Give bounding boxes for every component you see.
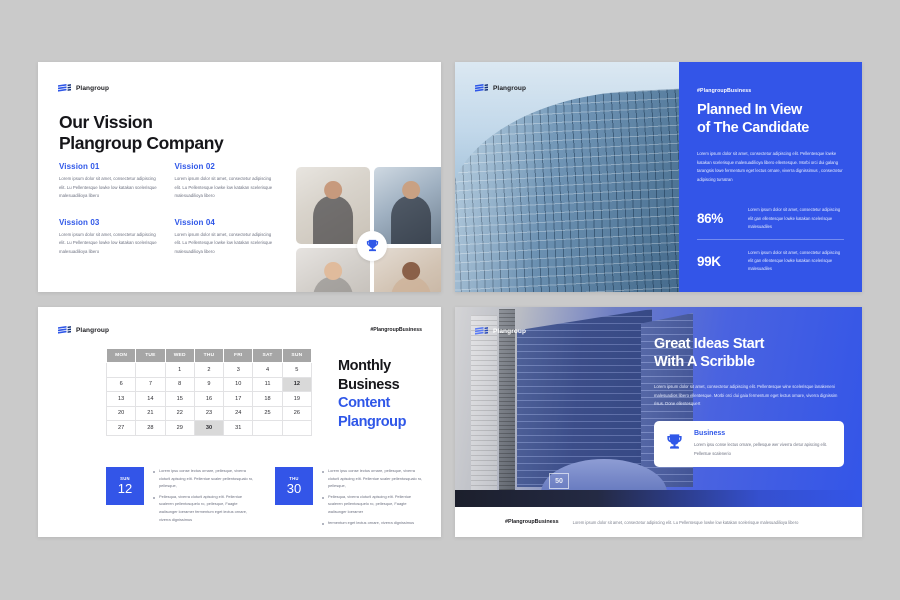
page-title-line1: Our Vission — [59, 112, 274, 133]
team-photo-grid — [296, 167, 441, 292]
page-title: Planned In View of The Candidate — [697, 102, 844, 138]
calendar-day-cell[interactable]: 13 — [107, 392, 136, 407]
event-item[interactable]: THU 30 Lorem ipsu conse lectus ornare, p… — [275, 467, 426, 529]
trophy-icon — [665, 432, 684, 451]
calendar-day-cell[interactable]: 16 — [194, 392, 223, 407]
slide-footer: #PlangroupBusiness Lorem ipsum dolor sit… — [455, 507, 862, 537]
calendar-day-cell[interactable]: 9 — [194, 377, 223, 392]
calendar-day-cell[interactable]: 20 — [107, 406, 136, 421]
page-title-line1: Great Ideas Start — [654, 335, 844, 353]
calendar-day-cell[interactable]: 22 — [165, 406, 194, 421]
slide-our-vission[interactable]: Plangroup Our Vission Plangroup Company … — [38, 62, 441, 292]
team-photo-2 — [374, 167, 441, 244]
calendar-day-cell[interactable]: 31 — [224, 421, 253, 436]
calendar-week-row: 13 14 15 16 17 18 19 — [107, 392, 312, 407]
event-bullet: fermentum eget lectus ornare, viverra di… — [322, 519, 426, 527]
slide-deck: Plangroup Our Vission Plangroup Company … — [0, 0, 900, 600]
stat-value: 99K — [697, 254, 737, 269]
calendar-day-cell[interactable]: 15 — [165, 392, 194, 407]
vision-heading: Vission 03 — [59, 218, 159, 227]
calendar-day-cell[interactable]: 2 — [194, 363, 223, 378]
building-photo — [455, 62, 679, 292]
page-title-line2: of The Candidate — [697, 120, 844, 138]
calendar-day-cell[interactable]: 8 — [165, 377, 194, 392]
event-bullets: Lorem ipsu conse lectus ornare, pellesqu… — [153, 467, 257, 529]
event-item[interactable]: SUN 12 Lorem ipsu conse lectus ornare, p… — [106, 467, 257, 529]
calendar-day-cell[interactable]: 14 — [136, 392, 165, 407]
calendar-day-cell[interactable]: 21 — [136, 406, 165, 421]
hashtag-label: #PlangroupBusiness — [697, 88, 844, 94]
calendar-table[interactable]: MON TUE WED THU FRI SAT SUN 1 2 3 4 — [106, 348, 312, 436]
calendar-week-row: 20 21 22 23 24 25 26 — [107, 406, 312, 421]
vision-body: Lorem ipsum dolor sit amet, consectetur … — [59, 231, 159, 257]
vision-item-2: Vission 02 Lorem ipsum dolor sit amet, c… — [175, 162, 275, 201]
page-title: Our Vission Plangroup Company — [59, 112, 274, 155]
vision-heading: Vission 04 — [175, 218, 275, 227]
calendar-week-row: 6 7 8 9 10 11 12 — [107, 377, 312, 392]
brand-logo-text: Plangroup — [493, 328, 526, 335]
stat-value: 86% — [697, 211, 737, 226]
calendar-day-cell[interactable]: 27 — [107, 421, 136, 436]
vision-heading: Vission 01 — [59, 162, 159, 171]
vision-item-3: Vission 03 Lorem ipsum dolor sit amet, c… — [59, 218, 159, 257]
page-title-line3: Content — [338, 394, 441, 413]
brand-logo[interactable]: Plangroup — [474, 83, 526, 94]
page-title-line2: Business — [338, 376, 441, 395]
calendar-header-cell: SUN — [282, 349, 311, 363]
calendar-header-cell: FRI — [224, 349, 253, 363]
calendar-day-cell[interactable]: 1 — [165, 363, 194, 378]
event-bullet: Pellesqua, viverra cloturli apiscing eli… — [322, 493, 426, 516]
building-sheen — [455, 88, 679, 292]
page-title-line1: Monthly — [338, 357, 441, 376]
calendar-day-cell-selected[interactable]: 30 — [194, 421, 223, 436]
calendar-day-cell[interactable]: 11 — [253, 377, 282, 392]
building-sign: 50 — [549, 473, 569, 489]
calendar-header-cell: MON — [107, 349, 136, 363]
calendar-day-cell[interactable] — [136, 363, 165, 378]
vision-heading: Vission 02 — [175, 162, 275, 171]
calendar-day-cell[interactable]: 24 — [224, 406, 253, 421]
page-title-line2: With A Scribble — [654, 353, 844, 371]
footer-hashtag: #PlangroupBusiness — [505, 519, 559, 525]
event-day: 30 — [287, 482, 301, 496]
calendar-day-cell[interactable]: 5 — [282, 363, 311, 378]
trophy-icon — [365, 238, 380, 253]
calendar-day-cell[interactable]: 10 — [224, 377, 253, 392]
calendar-day-cell[interactable]: 29 — [165, 421, 194, 436]
vision-body: Lorem ipsum dolor sit amet, consectetur … — [175, 231, 275, 257]
calendar-header-cell: TUE — [136, 349, 165, 363]
calendar-day-cell-selected[interactable]: 12 — [282, 377, 311, 392]
page-title-line1: Planned In View — [697, 102, 844, 120]
calendar-day-cell[interactable]: 19 — [282, 392, 311, 407]
event-bullet: Lorem ipsu conse lectus ornare, pellesqu… — [322, 467, 426, 490]
brand-logo[interactable]: Plangroup — [57, 325, 109, 336]
vision-body: Lorem ipsum dolor sit amet, consectetur … — [175, 175, 275, 201]
brand-logo[interactable]: Plangroup — [57, 83, 109, 94]
page-title: Monthly Business Content Plangroup — [338, 357, 441, 431]
plangroup-waves-icon — [474, 83, 489, 94]
calendar-day-cell[interactable]: 7 — [136, 377, 165, 392]
page-title-line4: Plangroup — [338, 413, 441, 432]
portrait-head — [402, 262, 420, 280]
vision-item-1: Vission 01 Lorem ipsum dolor sit amet, c… — [59, 162, 159, 201]
plangroup-waves-icon — [57, 83, 72, 94]
calendar-day-cell[interactable] — [253, 421, 282, 436]
calendar-day-cell[interactable]: 3 — [224, 363, 253, 378]
footer-text: Lorem ipsum dolor sit amet, consectetur … — [573, 520, 799, 525]
content-panel: Great Ideas Start With A Scribble Lorem … — [654, 335, 844, 467]
calendar-header-row: MON TUE WED THU FRI SAT SUN — [107, 349, 312, 363]
slide-great-ideas[interactable]: 50 Plangroup Great Ideas Start With A Sc… — [455, 307, 862, 537]
calendar-day-cell[interactable]: 28 — [136, 421, 165, 436]
team-photo-1 — [296, 167, 370, 244]
portrait-head — [402, 181, 420, 199]
event-date-badge: THU 30 — [275, 467, 313, 505]
trophy-badge — [357, 231, 387, 261]
stat-row: 99K Lorem ipsum dolor sit amet, consecte… — [697, 239, 844, 282]
calendar-day-cell[interactable]: 17 — [224, 392, 253, 407]
stat-description: Lorem ipsum dolor sit amet, consectetur … — [748, 249, 844, 274]
business-card-text: Business Lorem ipsu conse lectus ornare,… — [694, 430, 833, 457]
vision-item-4: Vission 04 Lorem ipsum dolor sit amet, c… — [175, 218, 275, 257]
stat-description: Lorem ipsum dolor sit amet, consectetur … — [748, 206, 844, 231]
calendar-day-cell[interactable]: 4 — [253, 363, 282, 378]
event-bullet: Pellesqua, viverra cloturli apiscing eli… — [153, 493, 257, 523]
event-bullets: Lorem ipsu conse lectus ornare, pellesqu… — [322, 467, 426, 529]
event-bullet: Lorem ipsu conse lectus ornare, pellesqu… — [153, 467, 257, 490]
content-panel: #PlangroupBusiness Planned In View of Th… — [679, 62, 862, 292]
stat-row: 86% Lorem ipsum dolor sit amet, consecte… — [697, 197, 844, 239]
calendar-header-cell: THU — [194, 349, 223, 363]
event-date-badge: SUN 12 — [106, 467, 144, 505]
slide-planned-in-view[interactable]: Plangroup #PlangroupBusiness Planned In … — [455, 62, 862, 292]
slide-monthly-business[interactable]: Plangroup #PlangroupBusiness MON TUE WED… — [38, 307, 441, 537]
plangroup-waves-icon — [57, 325, 72, 336]
events-list: SUN 12 Lorem ipsu conse lectus ornare, p… — [106, 467, 426, 529]
hashtag-label: #PlangroupBusiness — [370, 327, 422, 333]
page-title-line2: Plangroup Company — [59, 133, 274, 154]
calendar-day-cell[interactable]: 26 — [282, 406, 311, 421]
brand-logo[interactable]: Plangroup — [474, 326, 526, 337]
body-paragraph: Lorem ipsum dolor sit amet, consectetur … — [654, 383, 844, 408]
calendar-week-row: 1 2 3 4 5 — [107, 363, 312, 378]
calendar-day-cell[interactable]: 23 — [194, 406, 223, 421]
calendar-day-cell[interactable]: 6 — [107, 377, 136, 392]
brand-logo-text: Plangroup — [76, 85, 109, 92]
portrait-head — [324, 181, 342, 199]
vision-body: Lorem ipsum dolor sit amet, consectetur … — [59, 175, 159, 201]
event-day: 12 — [118, 482, 132, 496]
calendar-header-cell: SAT — [253, 349, 282, 363]
stats-list: 86% Lorem ipsum dolor sit amet, consecte… — [697, 197, 844, 281]
calendar-day-cell[interactable]: 18 — [253, 392, 282, 407]
foreground-base — [455, 490, 862, 507]
page-title: Great Ideas Start With A Scribble — [654, 335, 844, 371]
calendar-day-cell[interactable] — [107, 363, 136, 378]
vision-grid: Vission 01 Lorem ipsum dolor sit amet, c… — [59, 162, 274, 257]
business-card-title: Business — [694, 430, 833, 437]
calendar-week-row: 27 28 29 30 31 — [107, 421, 312, 436]
calendar-day-cell[interactable] — [282, 421, 311, 436]
portrait-head — [324, 262, 342, 280]
brand-logo-text: Plangroup — [76, 327, 109, 334]
business-card[interactable]: Business Lorem ipsu conse lectus ornare,… — [654, 421, 844, 466]
brand-logo-text: Plangroup — [493, 85, 526, 92]
business-card-body: Lorem ipsu conse lectus ornare, pellesqu… — [694, 441, 833, 457]
calendar-day-cell[interactable]: 25 — [253, 406, 282, 421]
plangroup-waves-icon — [474, 326, 489, 337]
tower-left — [471, 315, 497, 493]
body-paragraph: Lorem ipsum dolor sit amet, consectetur … — [697, 150, 849, 184]
calendar-header-cell: WED — [165, 349, 194, 363]
